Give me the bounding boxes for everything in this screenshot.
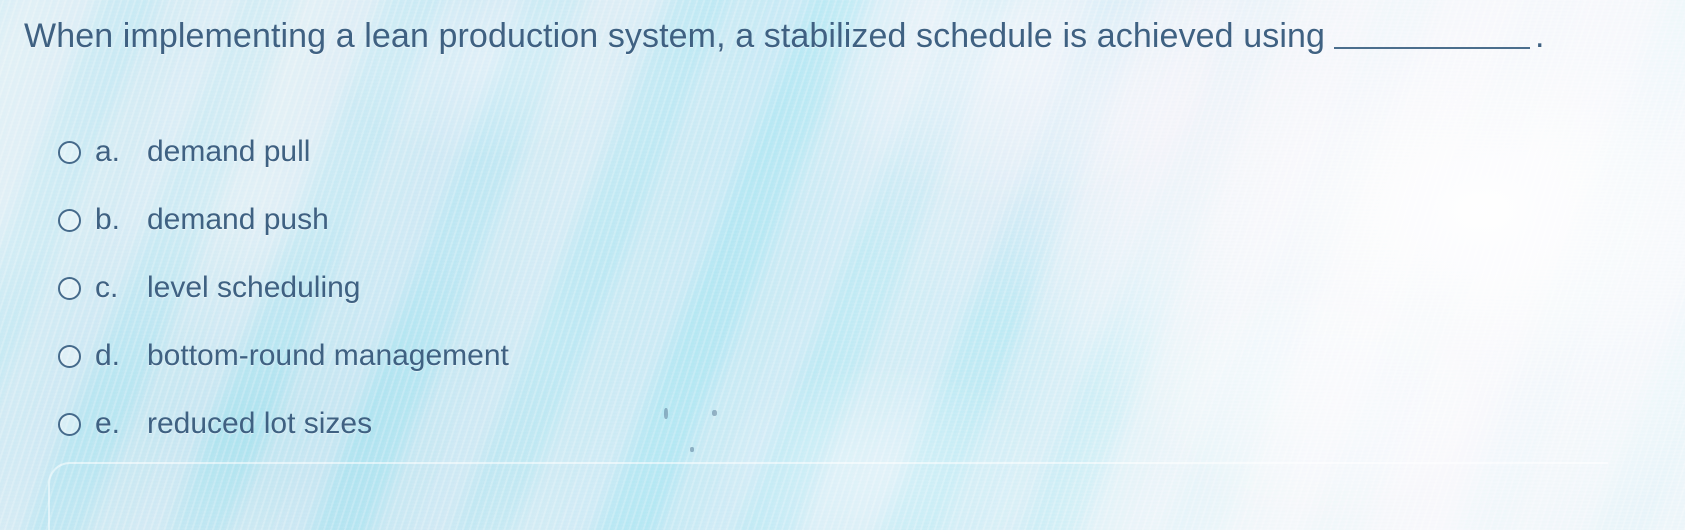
dust-speck [712,410,717,416]
dust-speck [664,408,668,419]
answer-option-b[interactable]: b. demand push [0,186,1685,254]
answer-blank [1334,47,1530,49]
radio-unchecked-icon[interactable] [58,345,81,368]
option-label: bottom-round management [147,339,509,373]
option-letter: d. [95,339,147,373]
option-letter: e. [95,407,147,441]
answer-option-a[interactable]: a. demand pull [0,118,1685,186]
answer-option-e[interactable]: e. reduced lot sizes [0,390,1685,458]
answer-option-d[interactable]: d. bottom-round management [0,322,1685,390]
option-label: reduced lot sizes [147,407,372,441]
radio-unchecked-icon[interactable] [58,277,81,300]
question-content: When implementing a lean production syst… [0,0,1685,530]
question-stem: When implementing a lean production syst… [24,14,1545,58]
option-label: demand pull [147,135,310,169]
dust-speck [690,447,694,452]
question-stem-text: When implementing a lean production syst… [24,17,1325,55]
option-letter: a. [95,135,147,169]
option-letter: c. [95,271,147,305]
radio-unchecked-icon[interactable] [58,209,81,232]
radio-unchecked-icon[interactable] [58,413,81,436]
question-stem-period: . [1535,17,1545,55]
radio-unchecked-icon[interactable] [58,141,81,164]
answer-option-c[interactable]: c. level scheduling [0,254,1685,322]
option-label: level scheduling [147,271,360,305]
option-letter: b. [95,203,147,237]
answer-options-list: a. demand pull b. demand push c. level s… [0,118,1685,458]
option-label: demand push [147,203,329,237]
